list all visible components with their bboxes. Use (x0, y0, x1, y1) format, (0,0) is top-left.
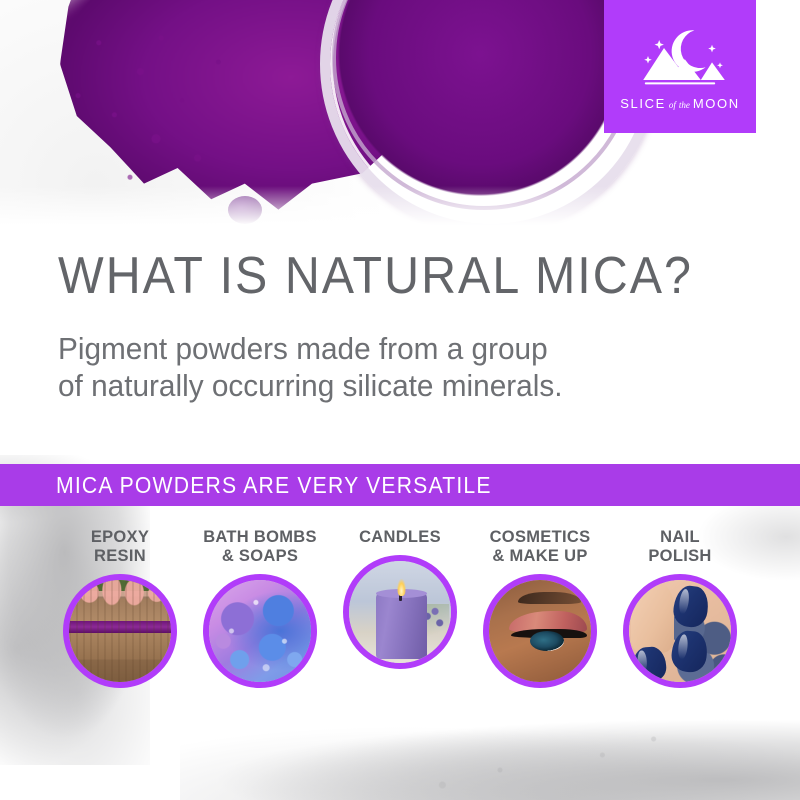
finger (631, 582, 674, 653)
versatile-banner-text: MICA POWDERS ARE VERY VERSATILE (56, 472, 492, 499)
category-image-candles[interactable] (343, 555, 457, 669)
candle-body (376, 592, 427, 659)
category-image-cosmetics-make-up[interactable] (483, 574, 597, 688)
bath-bomb-artwork (209, 580, 311, 682)
logo-word-of: of (669, 100, 676, 110)
category-item-cosmetics-make-up[interactable]: COSMETICS & MAKE UP (465, 528, 615, 688)
epoxy-resin-artwork (69, 580, 171, 682)
painted-nail-3 (632, 646, 667, 683)
candle-artwork (349, 561, 451, 663)
category-row: EPOXY RESIN BATH BOMBS & SOAPS CANDLES (0, 528, 800, 738)
category-image-bath-bombs-soaps[interactable] (203, 574, 317, 688)
category-label-nail-polish: NAIL POLISH (605, 528, 755, 566)
category-label-bath-bombs-soaps: BATH BOMBS & SOAPS (185, 528, 335, 566)
versatile-banner: MICA POWDERS ARE VERY VERSATILE (0, 464, 800, 506)
logo-word-moon: MOON (693, 96, 740, 111)
logo-word-the: the (679, 100, 690, 110)
category-item-nail-polish[interactable]: NAIL POLISH (605, 528, 755, 688)
subheading-line-2: of naturally occurring silicate minerals… (58, 367, 730, 404)
eyebrow (518, 592, 581, 604)
eye-iris (530, 631, 565, 651)
category-label-cosmetics-make-up: COSMETICS & MAKE UP (465, 528, 615, 566)
crescent-moon-mountains-stars-icon (632, 27, 728, 93)
category-item-candles[interactable]: CANDLES (325, 528, 475, 669)
subheading: Pigment powders made from a group of nat… (58, 330, 730, 404)
page-title: WHAT IS NATURAL MICA? (58, 245, 709, 307)
nail-polish-artwork (629, 580, 731, 682)
infographic-canvas: SLICE of the MOON WHAT IS NATURAL MICA? … (0, 0, 800, 800)
brand-logo-wordmark: SLICE of the MOON (620, 96, 739, 111)
category-item-bath-bombs-soaps[interactable]: BATH BOMBS & SOAPS (185, 528, 335, 688)
category-image-nail-polish[interactable] (623, 574, 737, 688)
category-image-epoxy-resin[interactable] (63, 574, 177, 688)
brand-logo[interactable]: SLICE of the MOON (604, 0, 756, 133)
category-label-epoxy-resin: EPOXY RESIN (45, 528, 195, 566)
category-item-epoxy-resin[interactable]: EPOXY RESIN (45, 528, 195, 688)
eye-makeup-artwork (489, 580, 591, 682)
subheading-line-1: Pigment powders made from a group (58, 330, 730, 367)
category-label-candles: CANDLES (325, 528, 475, 547)
logo-word-slice: SLICE (620, 96, 666, 111)
hero-bottom-fade (0, 186, 800, 232)
